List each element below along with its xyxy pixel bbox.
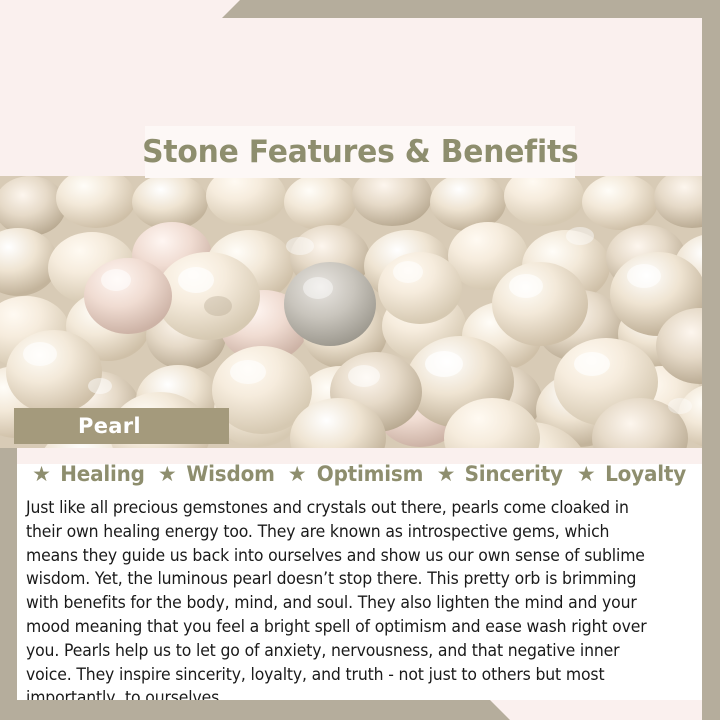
star-icon: ★ <box>437 464 456 485</box>
description-card: ★ Healing ★ Wisdom ★ Optimism ★ Sincerit… <box>17 448 703 700</box>
benefit-label: Wisdom <box>186 462 274 486</box>
frame-band-right <box>702 0 720 720</box>
stone-name-bar: Pearl <box>14 408 229 444</box>
frame-band-left <box>0 448 17 700</box>
benefit-item-healing: ★ Healing <box>32 462 147 486</box>
stone-features-infographic: BUDDHA STONES <box>0 0 720 720</box>
description-text: Just like all precious gemstones and cry… <box>26 496 664 710</box>
page-title: Stone Features & Benefits <box>142 134 578 170</box>
benefit-label: Healing <box>60 462 145 486</box>
benefit-label: Optimism <box>316 462 422 486</box>
star-icon: ★ <box>577 464 596 485</box>
benefit-item-wisdom: ★ Wisdom <box>158 462 277 486</box>
benefits-list: ★ Healing ★ Wisdom ★ Optimism ★ Sincerit… <box>17 462 703 486</box>
benefit-item-loyalty: ★ Loyalty <box>577 462 688 486</box>
benefit-item-sincerity: ★ Sincerity <box>437 462 566 486</box>
benefit-label: Loyalty <box>605 462 686 486</box>
benefit-item-optimism: ★ Optimism <box>288 462 426 486</box>
stone-name-label: Pearl <box>78 414 141 438</box>
page-title-banner: Stone Features & Benefits <box>145 126 575 178</box>
benefit-label: Sincerity <box>465 462 563 486</box>
star-icon: ★ <box>32 464 51 485</box>
star-icon: ★ <box>158 464 177 485</box>
star-icon: ★ <box>288 464 307 485</box>
